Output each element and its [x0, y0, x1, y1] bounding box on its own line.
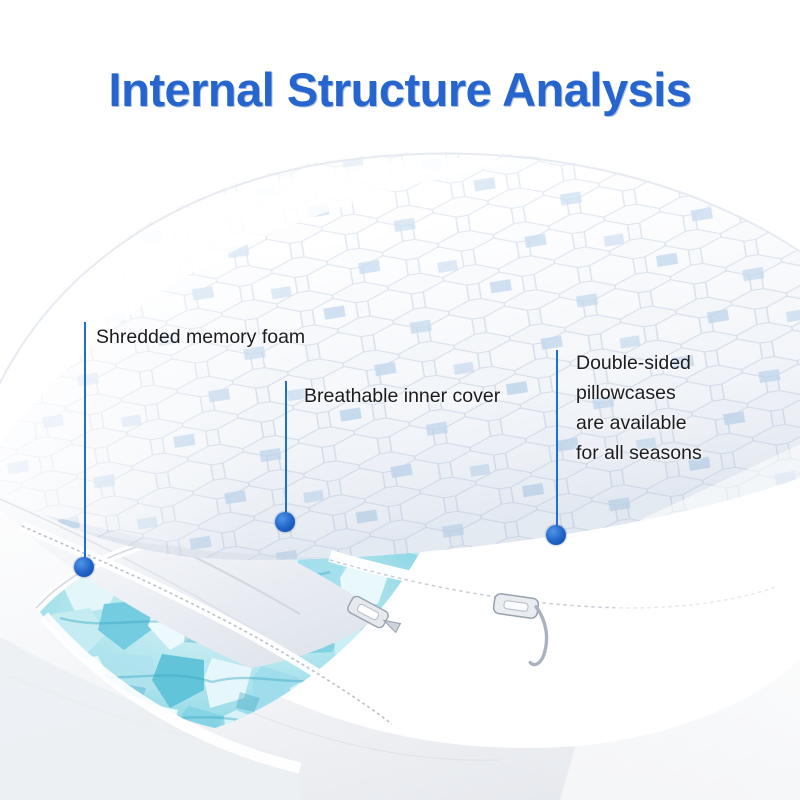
callout-dot-1	[74, 557, 94, 577]
callout-label-double-sided-pillowcases: Double-sided pillowcases are available f…	[576, 348, 702, 468]
callout-leader-line-1	[84, 322, 86, 568]
product-infographic: Shredded memory foam Breathable inner co…	[0, 0, 800, 800]
callout-dot-3	[546, 525, 566, 545]
callout-leader-line-3	[556, 350, 558, 535]
callout-leader-line-2	[285, 381, 287, 522]
callout-label-breathable-inner-cover: Breathable inner cover	[304, 381, 500, 411]
callout-label-shredded-memory-foam: Shredded memory foam	[96, 322, 305, 352]
page-title: Internal Structure Analysis	[0, 62, 800, 117]
callout-dot-2	[275, 512, 295, 532]
